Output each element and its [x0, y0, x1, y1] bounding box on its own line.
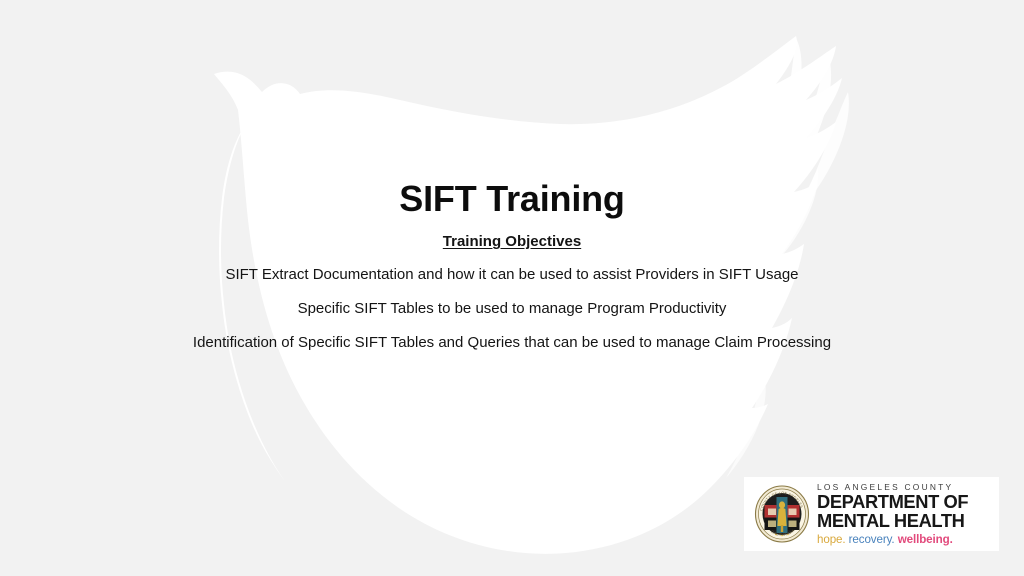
objective-line-1: SIFT Extract Documentation and how it ca…: [0, 265, 1024, 285]
los-angeles-county-seal-icon: COUNTY OF LOS ANGELES CALIFORNIA: [754, 485, 810, 543]
objective-line-3: Identification of Specific SIFT Tables a…: [0, 333, 1024, 353]
logo-tagline: hope. recovery. wellbeing.: [817, 534, 993, 546]
objectives-block: Training Objectives SIFT Extract Documen…: [0, 232, 1024, 353]
slide-canvas: SIFT Training Training Objectives SIFT E…: [0, 0, 1024, 576]
tagline-wellbeing: wellbeing.: [898, 533, 953, 546]
tagline-recovery: recovery.: [849, 533, 895, 546]
tagline-hope: hope.: [817, 533, 846, 546]
objective-line-2: Specific SIFT Tables to be used to manag…: [0, 299, 1024, 319]
dmh-logo-card: COUNTY OF LOS ANGELES CALIFORNIA LOS ANG…: [744, 477, 999, 551]
logo-department-line-2: MENTAL HEALTH: [817, 512, 991, 531]
logo-county-line: LOS ANGELES COUNTY: [817, 483, 993, 491]
dmh-logo-text: LOS ANGELES COUNTY DEPARTMENT OF MENTAL …: [817, 483, 993, 546]
slide-content: SIFT Training Training Objectives SIFT E…: [0, 0, 1024, 576]
objectives-heading: Training Objectives: [0, 232, 1024, 252]
page-title: SIFT Training: [0, 178, 1024, 219]
